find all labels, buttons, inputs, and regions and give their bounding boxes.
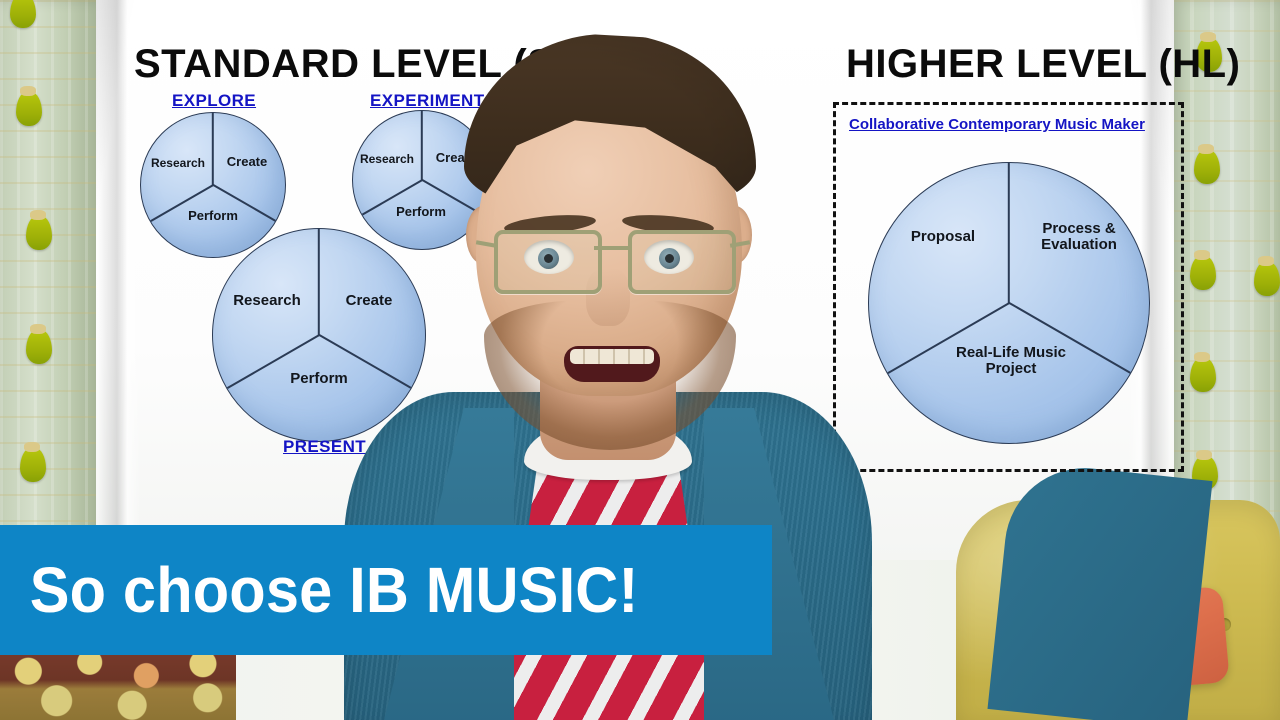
pie-slice-label-create: Create (215, 155, 279, 169)
pie-slice-label-perform: Perform (177, 209, 249, 223)
curtain-tassel (20, 448, 46, 482)
pie-slice-label-research: Research (145, 157, 211, 170)
glasses-bridge (594, 246, 628, 250)
pie-slice-label-research: Research (221, 293, 313, 309)
higher-level-title: HIGHER LEVEL (HL) (846, 42, 1240, 87)
pie-slice-label-process-evaluation: Process & Evaluation (1019, 221, 1139, 253)
lens-left (494, 230, 602, 294)
curtain-tassel (1190, 358, 1216, 392)
curtain-tassel (26, 330, 52, 364)
lens-right (628, 230, 736, 294)
curtain-tassel (1190, 256, 1216, 290)
pie-slice-label-proposal: Proposal (885, 229, 1001, 245)
pie-spoke (318, 229, 320, 335)
label-collaborative-contemporary-music-maker: Collaborative Contemporary Music Maker (849, 116, 1194, 133)
pie-spoke (1008, 163, 1010, 303)
explore-pie-chart: Research Create Perform (140, 112, 286, 258)
curtain-tassel (26, 216, 52, 250)
floral-cushion (0, 646, 236, 720)
pie-slice-label-real-life-music-project: Real-Life Music Project (941, 345, 1081, 377)
curtain-tassel (10, 0, 36, 28)
teeth (570, 349, 654, 364)
pie-spoke (212, 113, 214, 185)
eyeglasses (494, 230, 732, 292)
curtain-tassel (1254, 262, 1280, 296)
caption-text: So choose IB MUSIC! (0, 553, 638, 627)
person-right-shoulder (987, 460, 1212, 720)
curtain-tassel (16, 92, 42, 126)
caption-banner: So choose IB MUSIC! (0, 525, 772, 655)
video-frame: STANDARD LEVEL (SL) EXPLORE EXPERIMENT R… (0, 0, 1280, 720)
label-explore: EXPLORE (172, 91, 256, 111)
mouth (564, 346, 660, 382)
hl-pie-chart: Proposal Process & Evaluation Real-Life … (868, 162, 1150, 444)
curtain-tassel (1194, 150, 1220, 184)
